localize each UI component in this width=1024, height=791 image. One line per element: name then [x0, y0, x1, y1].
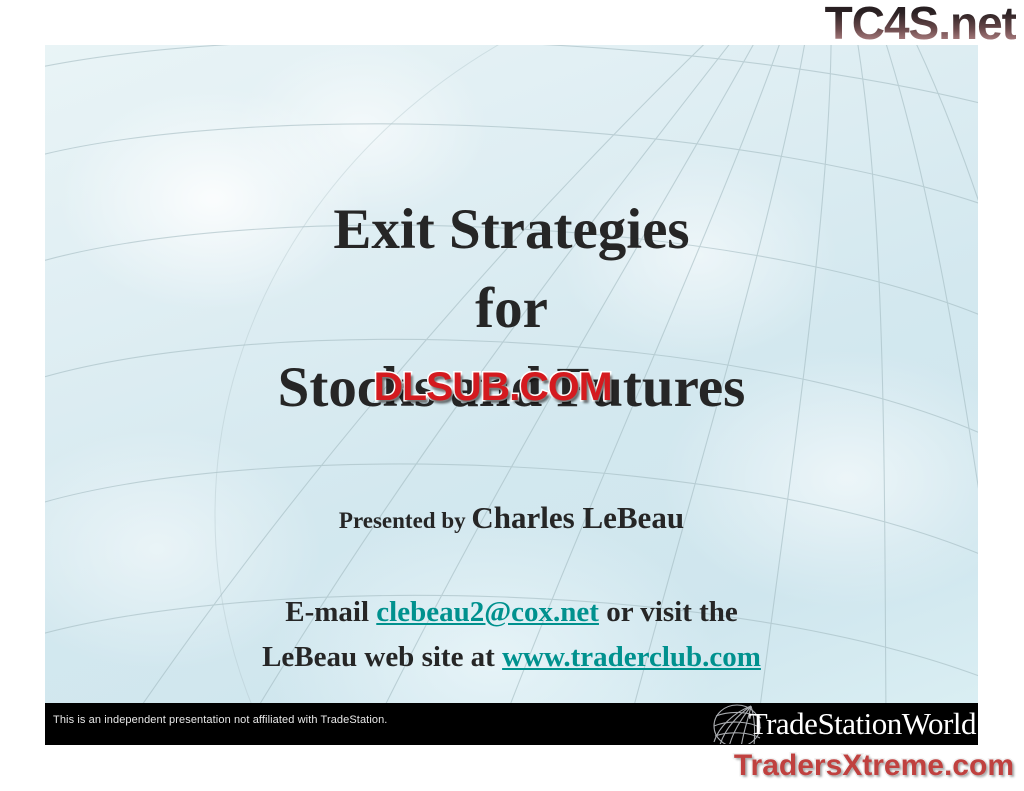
contact-line-2: LeBeau web site at www.traderclub.com	[45, 635, 978, 680]
presenter-name: Charles LeBeau	[471, 500, 684, 535]
email-prefix-label: E-mail	[285, 596, 376, 628]
footer-bar: This is an independent presentation not …	[45, 703, 978, 745]
email-suffix-label: or visit the	[599, 596, 738, 628]
contact-info: E-mail clebeau2@cox.net or visit the LeB…	[45, 590, 978, 680]
title-line-1: Exit Strategies	[45, 190, 978, 269]
tradestationworld-logo: TradeStationWorld	[711, 704, 976, 744]
email-link[interactable]: clebeau2@cox.net	[376, 596, 599, 628]
disclaimer-text: This is an independent presentation not …	[53, 714, 387, 726]
website-prefix-label: LeBeau web site at	[262, 641, 502, 673]
presenter-prefix: Presented by	[339, 508, 466, 533]
tc4s-site-watermark: TC4S.net	[825, 0, 1016, 48]
presentation-slide: Exit Strategies for Stocks and Futures D…	[45, 45, 978, 745]
contact-line-1: E-mail clebeau2@cox.net or visit the	[45, 590, 978, 635]
title-line-2: for	[45, 269, 978, 348]
website-link[interactable]: www.traderclub.com	[502, 641, 761, 673]
presenter-credit: Presented by Charles LeBeau	[45, 500, 978, 536]
dlsub-overlay-watermark: DLSUB.COM	[374, 367, 612, 407]
tradersxtreme-watermark: TradersXtreme.com	[734, 749, 1014, 783]
tradestationworld-logo-text: TradeStationWorld	[749, 707, 976, 741]
